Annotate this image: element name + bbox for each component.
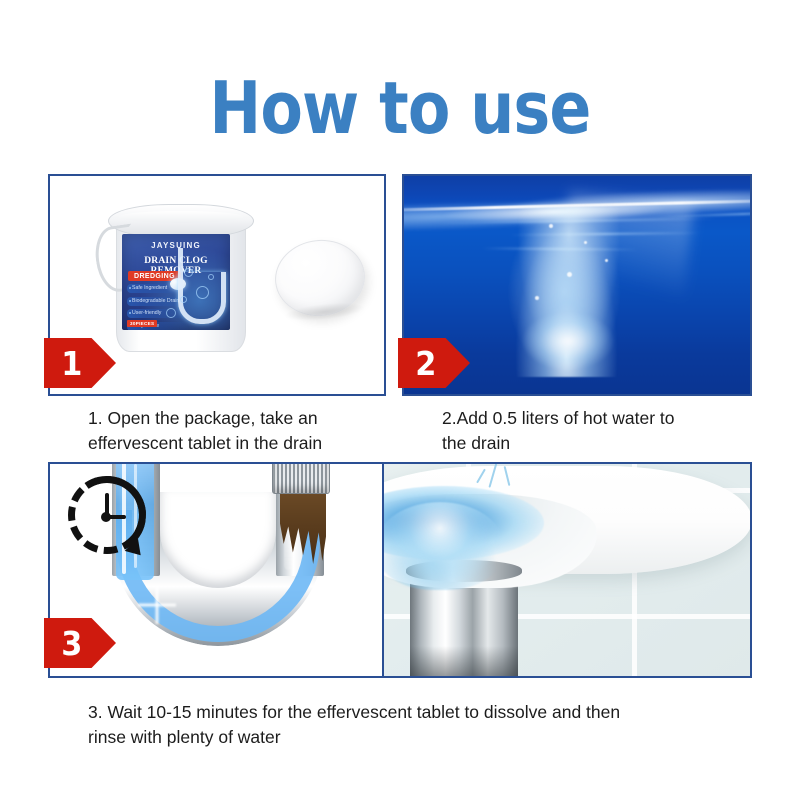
step-number: 1 xyxy=(46,347,83,380)
bubble-icon xyxy=(605,259,608,262)
step-number: 2 xyxy=(400,347,437,380)
bubble-icon xyxy=(184,268,193,277)
product-label: JAYSUING DRAIN CLOG REMOVER DREDGING Saf… xyxy=(122,234,230,330)
water-swirl xyxy=(383,502,504,590)
effervescent-tablet xyxy=(271,236,368,321)
bubble-icon xyxy=(208,274,214,280)
page-title: How to use xyxy=(56,72,744,144)
bubble-icon xyxy=(166,308,176,318)
product-bucket: JAYSUING DRAIN CLOG REMOVER DREDGING Saf… xyxy=(110,204,252,356)
step-number: 3 xyxy=(46,627,83,660)
infographic-root: How to use JAYSUING DRAIN CLOG REMOVER D… xyxy=(0,0,800,800)
clock-center-pin xyxy=(101,512,111,522)
pipe-coupling-nut xyxy=(272,462,330,494)
step-3-caption: 3. Wait 10-15 minutes for the effervesce… xyxy=(88,700,728,750)
step-1-caption: 1. Open the package, take an effervescen… xyxy=(88,406,398,456)
label-pieces-badge: 30PIECES xyxy=(127,320,157,327)
fizzing-tablet-bubbles xyxy=(508,207,626,377)
label-brand: JAYSUING xyxy=(122,241,230,250)
step-3-image-panel-right xyxy=(383,462,752,678)
bubble-icon xyxy=(196,286,209,299)
sink-drain-photo xyxy=(384,464,750,676)
step-2-caption: 2.Add 0.5 liters of hot water to the dra… xyxy=(442,406,762,456)
clock-icon xyxy=(68,476,146,554)
bubble-icon xyxy=(567,272,572,277)
sparkle-icon xyxy=(138,586,176,624)
bubble-icon xyxy=(180,296,187,303)
